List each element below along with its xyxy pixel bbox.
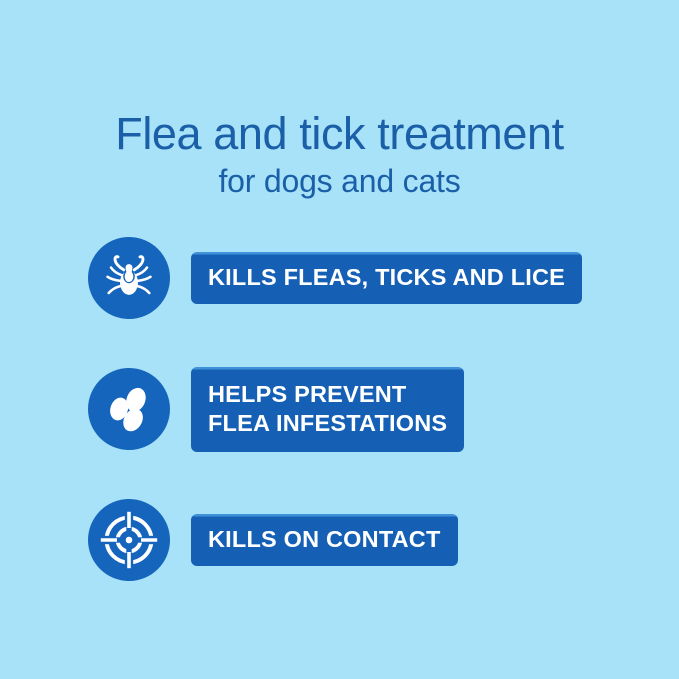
feature-banner-line: FLEA INFESTATIONS: [208, 409, 447, 438]
heading-block: Flea and tick treatment for dogs and cat…: [0, 108, 679, 200]
feature-banner: HELPS PREVENT FLEA INFESTATIONS: [191, 367, 464, 452]
feature-list: KILLS FLEAS, TICKS AND LICE HE: [88, 230, 648, 614]
feature-banner-line: HELPS PREVENT: [208, 380, 447, 409]
page-title: Flea and tick treatment: [0, 108, 679, 160]
feature-row: HELPS PREVENT FLEA INFESTATIONS: [88, 352, 648, 466]
feature-banner: KILLS ON CONTACT: [191, 514, 458, 566]
feature-row: KILLS FLEAS, TICKS AND LICE: [88, 230, 648, 326]
feature-row: KILLS ON CONTACT: [88, 492, 648, 588]
product-benefits-infographic: Flea and tick treatment for dogs and cat…: [0, 0, 679, 679]
flea-eggs-icon: [88, 368, 170, 450]
target-crosshair-icon: [88, 499, 170, 581]
tick-icon: [88, 237, 170, 319]
feature-banner-line: KILLS ON CONTACT: [208, 525, 441, 554]
feature-banner-line: KILLS FLEAS, TICKS AND LICE: [208, 263, 565, 292]
page-subtitle: for dogs and cats: [0, 162, 679, 200]
feature-banner: KILLS FLEAS, TICKS AND LICE: [191, 252, 582, 304]
